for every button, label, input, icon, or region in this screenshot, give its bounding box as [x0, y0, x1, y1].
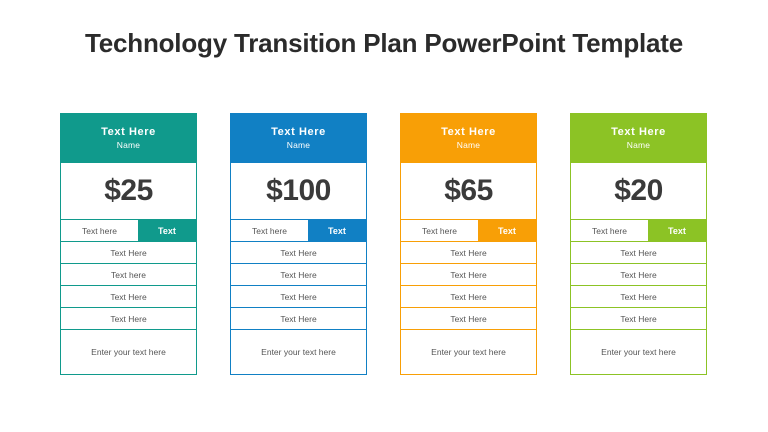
feature-row-label: Text Here — [110, 314, 146, 324]
price-value: $25 — [104, 174, 153, 208]
card-footer-label: Enter your text here — [601, 347, 676, 357]
slide-canvas: Technology Transition Plan PowerPoint Te… — [0, 0, 768, 432]
price-value: $20 — [614, 174, 663, 208]
page-title: Technology Transition Plan PowerPoint Te… — [0, 28, 768, 59]
feature-row[interactable]: Text Here — [570, 264, 707, 286]
card-header-title: Text Here — [271, 126, 326, 140]
feature-row[interactable]: Text Here — [400, 286, 537, 308]
feature-row[interactable]: Text Here — [400, 264, 537, 286]
feature-row[interactable]: Text Here — [570, 242, 707, 264]
feature-row[interactable]: Text Here — [60, 242, 197, 264]
card-header: Text HereName — [60, 113, 197, 163]
feature-row[interactable]: Text Here — [400, 242, 537, 264]
feature-row[interactable]: Text Here — [570, 308, 707, 330]
feature-row-label: Text Here — [620, 314, 656, 324]
feature-row[interactable]: Text Here — [400, 308, 537, 330]
feature-row-label: Text Here — [450, 248, 486, 258]
feature-row[interactable]: Text Here — [230, 308, 367, 330]
card-footer-label: Enter your text here — [91, 347, 166, 357]
card-footer-label: Enter your text here — [431, 347, 506, 357]
feature-row-label: Text Here — [280, 314, 316, 324]
price-value: $65 — [444, 174, 493, 208]
pricing-card: Text HereName$65Text hereTextText HereTe… — [400, 113, 537, 375]
feature-row[interactable]: Text Here — [230, 286, 367, 308]
card-header-title: Text Here — [611, 126, 666, 140]
feature-row-label: Text Here — [450, 292, 486, 302]
highlight-row-left[interactable]: Text here — [401, 220, 478, 241]
card-header: Text HereName — [400, 113, 537, 163]
feature-row-label: Text Here — [450, 270, 486, 280]
price-box: $100 — [230, 163, 367, 220]
card-header: Text HereName — [230, 113, 367, 163]
card-header-subtitle: Name — [457, 140, 480, 151]
feature-row-label: Text Here — [280, 248, 316, 258]
pricing-card: Text HereName$25Text hereTextText HereTe… — [60, 113, 197, 375]
highlight-row-right[interactable]: Text — [648, 220, 706, 241]
feature-row[interactable]: Text here — [60, 264, 197, 286]
highlight-row-left[interactable]: Text here — [61, 220, 138, 241]
card-header-title: Text Here — [441, 126, 496, 140]
highlight-row-right[interactable]: Text — [138, 220, 196, 241]
feature-row-label: Text Here — [110, 248, 146, 258]
card-header-subtitle: Name — [627, 140, 650, 151]
price-box: $25 — [60, 163, 197, 220]
feature-row-label: Text Here — [280, 270, 316, 280]
feature-row-label: Text Here — [110, 292, 146, 302]
feature-row-label: Text Here — [280, 292, 316, 302]
card-footer[interactable]: Enter your text here — [230, 330, 367, 375]
feature-row[interactable]: Text Here — [60, 286, 197, 308]
highlight-row-left[interactable]: Text here — [231, 220, 308, 241]
feature-row-label: Text Here — [620, 292, 656, 302]
price-box: $20 — [570, 163, 707, 220]
price-box: $65 — [400, 163, 537, 220]
pricing-card: Text HereName$20Text hereTextText HereTe… — [570, 113, 707, 375]
card-footer[interactable]: Enter your text here — [400, 330, 537, 375]
feature-row[interactable]: Text Here — [60, 308, 197, 330]
highlight-row: Text hereText — [230, 220, 367, 242]
card-footer[interactable]: Enter your text here — [570, 330, 707, 375]
card-header-subtitle: Name — [287, 140, 310, 151]
card-header: Text HereName — [570, 113, 707, 163]
highlight-row: Text hereText — [570, 220, 707, 242]
highlight-row: Text hereText — [400, 220, 537, 242]
highlight-row-left[interactable]: Text here — [571, 220, 648, 241]
feature-row-label: Text here — [111, 270, 146, 280]
card-footer[interactable]: Enter your text here — [60, 330, 197, 375]
feature-row-label: Text Here — [450, 314, 486, 324]
feature-row[interactable]: Text Here — [230, 242, 367, 264]
pricing-card-group: Text HereName$25Text hereTextText HereTe… — [60, 113, 708, 375]
feature-row-label: Text Here — [620, 248, 656, 258]
highlight-row-right[interactable]: Text — [478, 220, 536, 241]
feature-row-label: Text Here — [620, 270, 656, 280]
highlight-row: Text hereText — [60, 220, 197, 242]
feature-row[interactable]: Text Here — [570, 286, 707, 308]
pricing-card: Text HereName$100Text hereTextText HereT… — [230, 113, 367, 375]
feature-row[interactable]: Text Here — [230, 264, 367, 286]
card-header-title: Text Here — [101, 126, 156, 140]
highlight-row-right[interactable]: Text — [308, 220, 366, 241]
card-footer-label: Enter your text here — [261, 347, 336, 357]
price-value: $100 — [266, 174, 331, 208]
card-header-subtitle: Name — [117, 140, 140, 151]
